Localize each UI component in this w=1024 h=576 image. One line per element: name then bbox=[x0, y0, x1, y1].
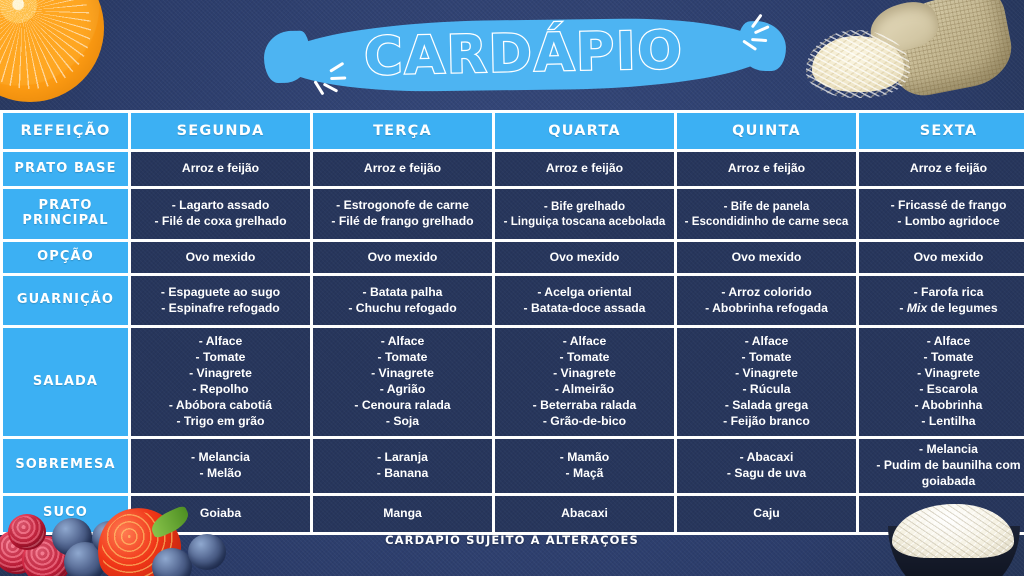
poster-header: CARDÁPIO bbox=[0, 0, 1024, 110]
table-row-prato-base: PRATO BASE Arroz e feijão Arroz e feijão… bbox=[3, 152, 1024, 186]
row-label-opcao: OPÇÃO bbox=[3, 242, 128, 273]
header-day-sexta: SEXTA bbox=[859, 113, 1024, 149]
spilled-rice bbox=[812, 36, 904, 92]
cell-sobremesa-quinta: - Abacaxi- Sagu de uva bbox=[677, 439, 856, 493]
header-day-terca: TERÇA bbox=[313, 113, 492, 149]
cell-prato-base-quinta: Arroz e feijão bbox=[677, 152, 856, 186]
cooked-rice bbox=[892, 504, 1014, 558]
cell-salada-segunda: - Alface- Tomate- Vinagrete- Repolho- Ab… bbox=[131, 328, 310, 436]
blueberry bbox=[152, 548, 192, 576]
menu-poster: CARDÁPIO REFEIÇÃO SEGUNDA TERÇA QUARTA bbox=[0, 0, 1024, 576]
cell-prato-base-quarta: Arroz e feijão bbox=[495, 152, 674, 186]
table-row-salada: SALADA - Alface- Tomate- Vinagrete- Repo… bbox=[3, 328, 1024, 436]
cell-suco-quinta: Caju bbox=[677, 496, 856, 532]
header-refeicao: REFEIÇÃO bbox=[3, 113, 128, 149]
cell-guarnicao-segunda: - Espaguete ao sugo- Espinafre refogado bbox=[131, 276, 310, 325]
cell-salada-sexta: - Alface- Tomate- Vinagrete- Escarola- A… bbox=[859, 328, 1024, 436]
cell-salada-quarta: - Alface- Tomate- Vinagrete- Almeirão- B… bbox=[495, 328, 674, 436]
row-label-line1: PRATO bbox=[38, 198, 92, 213]
cell-suco-terca: Manga bbox=[313, 496, 492, 532]
rice-sack-icon bbox=[816, 0, 1016, 110]
row-label-prato-base: PRATO BASE bbox=[3, 152, 128, 186]
row-label-sobremesa: SOBREMESA bbox=[3, 439, 128, 493]
cell-prato-base-terca: Arroz e feijão bbox=[313, 152, 492, 186]
cell-opcao-segunda: Ovo mexido bbox=[131, 242, 310, 273]
table-row-prato-principal: PRATO PRINCIPAL - Lagarto assado- Filé d… bbox=[3, 189, 1024, 239]
cell-salada-terca: - Alface- Tomate- Vinagrete- Agrião- Cen… bbox=[313, 328, 492, 436]
header-day-quarta: QUARTA bbox=[495, 113, 674, 149]
row-label-guarnicao: GUARNIÇÃO bbox=[3, 276, 128, 325]
table-row-sobremesa: SOBREMESA - Melancia- Melão - Laranja- B… bbox=[3, 439, 1024, 493]
cell-suco-quarta: Abacaxi bbox=[495, 496, 674, 532]
cell-opcao-quarta: Ovo mexido bbox=[495, 242, 674, 273]
cell-opcao-quinta: Ovo mexido bbox=[677, 242, 856, 273]
table-row-opcao: OPÇÃO Ovo mexido Ovo mexido Ovo mexido O… bbox=[3, 242, 1024, 273]
cell-guarnicao-quarta: - Acelga oriental- Batata-doce assada bbox=[495, 276, 674, 325]
cell-opcao-sexta: Ovo mexido bbox=[859, 242, 1024, 273]
cell-sobremesa-segunda: - Melancia- Melão bbox=[131, 439, 310, 493]
row-label-prato-principal: PRATO PRINCIPAL bbox=[3, 189, 128, 239]
orange-slice-icon bbox=[0, 0, 104, 102]
cell-opcao-terca: Ovo mexido bbox=[313, 242, 492, 273]
cell-prato-principal-terca: - Estrogonofe de carne- Filé de frango g… bbox=[313, 189, 492, 239]
cell-guarnicao-sexta: - Farofa rica- Mix de legumes bbox=[859, 276, 1024, 325]
cell-sobremesa-terca: - Laranja- Banana bbox=[313, 439, 492, 493]
table-header-row: REFEIÇÃO SEGUNDA TERÇA QUARTA QUINTA SEX… bbox=[3, 113, 1024, 149]
cell-prato-base-sexta: Arroz e feijão bbox=[859, 152, 1024, 186]
cell-prato-principal-sexta: - Fricassé de frango- Lombo agridoce bbox=[859, 189, 1024, 239]
cell-prato-principal-quinta: - Bife de panela- Escondidinho de carne … bbox=[677, 189, 856, 239]
cell-sobremesa-sexta: - Melancia- Pudim de baunilha com goiaba… bbox=[859, 439, 1024, 493]
page-title: CARDÁPIO bbox=[277, 13, 770, 95]
cell-sobremesa-quarta: - Mamão- Maçã bbox=[495, 439, 674, 493]
cell-prato-principal-quarta: - Bife grelhado- Linguiça toscana acebol… bbox=[495, 189, 674, 239]
cell-guarnicao-quinta: - Arroz colorido- Abobrinha refogada bbox=[677, 276, 856, 325]
disclaimer-note: CARDÁPIO SUJEITO A ALTERAÇÕES bbox=[0, 533, 1024, 547]
cell-prato-base-segunda: Arroz e feijão bbox=[131, 152, 310, 186]
weekly-menu-table: REFEIÇÃO SEGUNDA TERÇA QUARTA QUINTA SEX… bbox=[0, 110, 1024, 535]
header-day-segunda: SEGUNDA bbox=[131, 113, 310, 149]
cell-salada-quinta: - Alface- Tomate- Vinagrete- Rúcula- Sal… bbox=[677, 328, 856, 436]
header-day-quinta: QUINTA bbox=[677, 113, 856, 149]
table-row-guarnicao: GUARNIÇÃO - Espaguete ao sugo- Espinafre… bbox=[3, 276, 1024, 325]
cell-guarnicao-terca: - Batata palha- Chuchu refogado bbox=[313, 276, 492, 325]
row-label-line2: PRINCIPAL bbox=[22, 213, 108, 228]
row-label-salada: SALADA bbox=[3, 328, 128, 436]
cell-prato-principal-segunda: - Lagarto assado- Filé de coxa grelhado bbox=[131, 189, 310, 239]
